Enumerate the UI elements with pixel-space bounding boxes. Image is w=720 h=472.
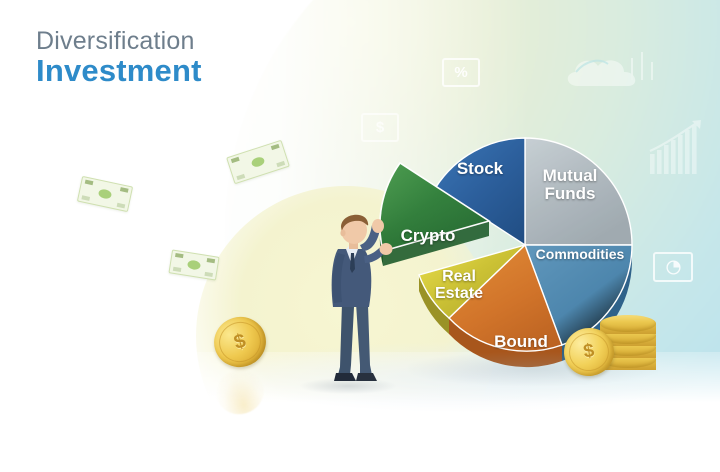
businessman-figure [316, 207, 396, 389]
shoe-right [356, 373, 377, 381]
illustration-canvas: Diversification Investment % $ [0, 0, 720, 472]
hand-right [372, 219, 384, 233]
shoe-left [334, 373, 356, 381]
pie-label-crypto: Crypto [392, 227, 464, 245]
leg-left [338, 303, 354, 375]
ear [340, 230, 345, 237]
hand-support [380, 243, 393, 255]
coin-right-dollar-symbol: $ [566, 330, 611, 374]
leg-right [356, 303, 372, 375]
pie-label-stock: Stock [444, 160, 516, 178]
pie-label-real-estate: Real Estate [424, 269, 494, 303]
pie-label-mutual-funds: Mutual Funds [528, 167, 612, 203]
coin-stack-disc-1 [600, 315, 656, 332]
coin-dollar-symbol: $ [214, 317, 265, 367]
pie-label-bound: Bound [487, 333, 555, 351]
pie-label-commodities: Commodities [527, 247, 633, 262]
